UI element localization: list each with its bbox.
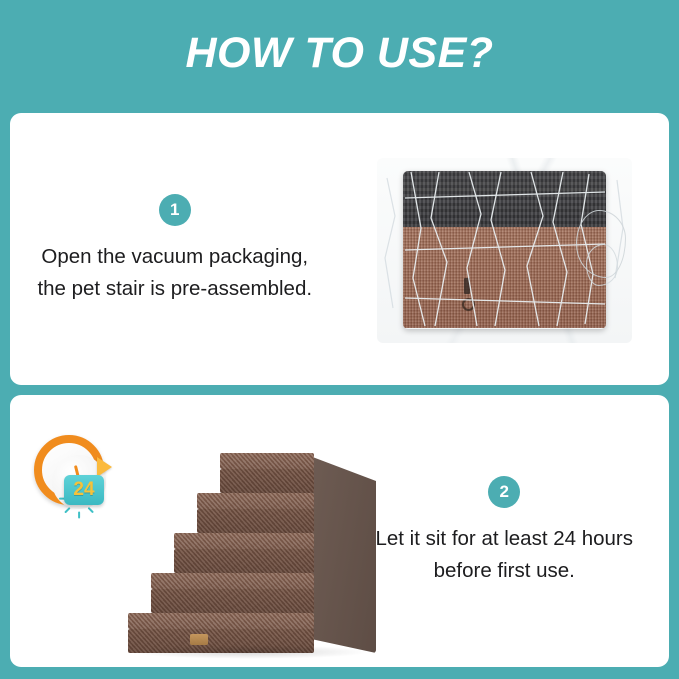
page-title: HOW TO USE? [185,32,493,81]
stair-riser-5 [220,469,314,493]
recycle-symbol-icon [462,298,475,311]
stairs-floor-shadow [130,645,370,659]
clock-24-hour-icon: 24 [32,431,114,513]
packed-pet-stair [403,171,606,329]
stair-tread-1 [128,613,314,629]
care-label-icon [464,278,470,294]
stair-tread-5 [220,453,314,469]
header: HOW TO USE? [0,0,679,113]
stair-tread-3 [174,533,314,549]
stair-tread-4 [197,493,314,509]
stairs-steps [128,453,314,653]
step-2-image-block: 24 [10,395,340,667]
step-1-image-block [340,113,670,385]
step-2-text-block: 2 Let it sit for at least 24 hours befor… [340,476,670,587]
step-1-instruction: Open the vacuum packaging, the pet stair… [36,241,314,305]
brand-logo-tag [190,634,208,645]
clock-rotation-arrow-icon [97,457,112,477]
pet-stairs-photo: 24 [10,395,340,667]
step-1-badge: 1 [159,194,191,226]
package-dark-foam-section [403,171,606,228]
step-card-2: 24 [10,395,669,667]
stair-riser-4 [197,509,314,533]
step-2-badge: 2 [488,476,520,508]
vacuum-package-photo [377,158,632,343]
step-2-instruction: Let it sit for at least 24 hours before … [366,523,644,587]
pet-stairs-product [128,453,376,653]
stair-tread-2 [151,573,314,589]
stair-riser-2 [151,589,314,613]
plastic-air-pocket-small [586,244,618,286]
stair-riser-3 [174,549,314,573]
step-1-text-block: 1 Open the vacuum packaging, the pet sta… [10,194,340,305]
step-card-1: 1 Open the vacuum packaging, the pet sta… [10,113,669,385]
how-to-use-infographic: HOW TO USE? 1 Open the vacuum packaging,… [0,0,679,679]
clock-24-badge: 24 [64,475,104,505]
